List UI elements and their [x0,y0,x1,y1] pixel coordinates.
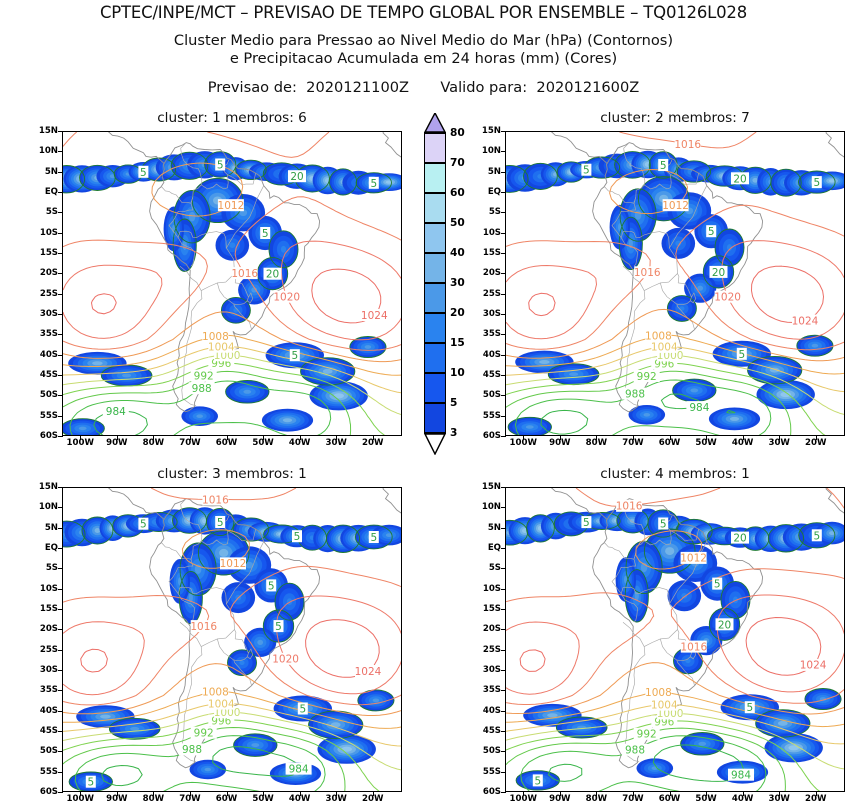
lon-tick-mark [300,791,301,796]
map-plot-area: 9849889929961000100410081012101610161020… [63,488,401,791]
lon-tick-mark [523,435,524,440]
lat-tick-mark [501,772,506,773]
lat-tick-label: 5S [471,563,501,573]
panel-1-title: cluster: 1 membros: 6 [62,110,402,126]
svg-text:1008: 1008 [202,686,229,698]
lat-tick-mark [501,711,506,712]
lat-tick-label: EQ [471,187,501,197]
lat-tick-label: 15S [28,248,58,258]
svg-text:1020: 1020 [714,292,741,304]
lat-tick-mark [58,192,63,193]
lat-tick-mark [501,690,506,691]
lon-tick-mark [743,435,744,440]
svg-text:5: 5 [262,228,269,240]
lat-tick-label: 15N [28,126,58,136]
svg-text:1016: 1016 [680,641,707,653]
lat-tick-mark [501,589,506,590]
lat-tick-label: 25S [471,645,501,655]
colorbar-tick-label: 70 [450,157,465,169]
colorbar-band[interactable] [424,283,446,313]
lat-tick-mark [58,253,63,254]
lat-tick-label: 15S [471,248,501,258]
lon-tick-mark [670,435,671,440]
lon-tick-mark [117,791,118,796]
lon-tick-mark [263,435,264,440]
forecast-from-label: Previsao de: [208,79,297,96]
lat-tick-label: 10N [28,502,58,512]
lat-tick-mark [58,375,63,376]
lat-tick-label: 20S [471,268,501,278]
svg-text:1008: 1008 [202,331,229,343]
lat-tick-label: 20S [471,624,501,634]
lon-tick-mark [633,791,634,796]
colorbar-tick-label: 50 [450,217,465,229]
lat-tick-label: 5S [28,207,58,217]
lat-tick-label: 50S [471,390,501,400]
lat-tick-label: 35S [28,329,58,339]
svg-text:5: 5 [294,531,301,543]
lon-tick-mark [670,791,671,796]
svg-text:20: 20 [290,171,303,183]
lat-tick-label: 55S [471,767,501,777]
lon-tick-mark [560,791,561,796]
svg-text:1012: 1012 [218,200,245,212]
lat-tick-mark [58,711,63,712]
lon-tick-mark [816,435,817,440]
svg-text:1004: 1004 [651,342,678,354]
lat-tick-label: 40S [471,350,501,360]
lat-tick-label: EQ [28,543,58,553]
lat-tick-label: 30S [471,665,501,675]
colorbar-tick-mark [424,402,446,403]
colorbar-tick-mark [424,312,446,313]
lat-tick-mark [58,629,63,630]
lat-tick-mark [501,294,506,295]
lat-tick-mark [58,528,63,529]
lat-tick-mark [501,395,506,396]
colorbar-band[interactable] [424,313,446,343]
forecast-time-line: Previsao de: 2020121100Z Valido para: 20… [0,79,847,96]
lat-tick-label: 40S [28,350,58,360]
lon-tick-mark [596,791,597,796]
svg-text:5: 5 [291,350,298,362]
lat-tick-mark [58,507,63,508]
lat-tick-mark [501,131,506,132]
colorbar-tick-label: 30 [450,277,465,289]
svg-text:5: 5 [708,226,715,238]
colorbar-tick-label: 10 [450,367,465,379]
lat-tick-label: 30S [471,309,501,319]
lat-tick-mark [501,355,506,356]
lat-tick-label: 30S [28,665,58,675]
chart-header: CPTEC/INPE/MCT – PREVISAO DE TEMPO GLOBA… [0,0,847,96]
colorbar-tick-label: 80 [450,127,465,139]
lon-tick-mark [336,791,337,796]
lat-tick-label: 5N [471,523,501,533]
colorbar-band[interactable] [424,223,446,253]
lon-tick-mark [816,791,817,796]
lat-tick-label: 50S [28,390,58,400]
lat-tick-label: EQ [28,187,58,197]
colorbar-band[interactable] [424,373,446,403]
lat-tick-mark [58,670,63,671]
colorbar-band[interactable] [424,253,446,283]
lat-tick-label: 10N [471,502,501,512]
lat-tick-mark [58,792,63,793]
lat-tick-mark [501,609,506,610]
colorbar-tick-mark [424,252,446,253]
svg-text:1016: 1016 [634,267,661,279]
lat-tick-mark [58,395,63,396]
svg-text:992: 992 [637,371,657,383]
lat-tick-mark [501,436,506,437]
lat-tick-label: 45S [28,370,58,380]
svg-text:984: 984 [731,770,751,782]
colorbar-under-arrow [424,433,446,455]
lat-tick-label: 40S [471,706,501,716]
lat-tick-mark [58,212,63,213]
svg-text:1024: 1024 [361,310,388,322]
lat-tick-mark [58,233,63,234]
lat-tick-mark [58,294,63,295]
svg-text:5: 5 [299,704,306,716]
lat-tick-mark [58,690,63,691]
lat-tick-mark [501,314,506,315]
lat-tick-label: 45S [471,370,501,380]
lat-tick-mark [58,334,63,335]
lat-tick-label: 10S [28,228,58,238]
svg-text:1016: 1016 [674,139,701,151]
plot-canvas: 9849889929961000100410081012101610161020… [63,488,401,791]
colorbar-band[interactable] [424,343,446,373]
lat-tick-mark [501,212,506,213]
plot-canvas: 9849889929961000100410081012101610161024… [506,488,844,791]
svg-text:5: 5 [217,517,224,529]
lon-tick-mark [80,435,81,440]
colorbar-tick-mark [424,432,446,433]
plot-canvas: 9849889929961000100410081012101610161020… [506,132,844,435]
map-plot-area: 9849889929961000100410081012101610161020… [506,132,844,435]
colorbar-tick-mark [424,342,446,343]
svg-text:5: 5 [87,777,94,789]
panel-4-title: cluster: 4 membros: 1 [505,466,845,482]
valid-for-value: 2020121600Z [536,79,639,96]
lat-tick-mark [501,528,506,529]
lon-tick-mark [560,435,561,440]
svg-text:1004: 1004 [208,342,235,354]
lat-tick-mark [58,436,63,437]
svg-text:5: 5 [660,519,667,531]
lat-tick-mark [58,772,63,773]
lat-tick-label: 45S [471,726,501,736]
lon-tick-mark [779,791,780,796]
svg-text:1016: 1016 [202,494,229,506]
lat-tick-label: 15N [471,126,501,136]
colorbar-over-arrow [424,113,446,133]
lon-tick-mark [373,435,374,440]
svg-text:1008: 1008 [645,330,672,342]
colorbar-tick-label: 20 [450,307,465,319]
colorbar-tick-mark [424,162,446,163]
lon-tick-mark [596,435,597,440]
lat-tick-mark [501,233,506,234]
svg-text:1004: 1004 [651,699,678,711]
lat-tick-mark [501,792,506,793]
svg-text:20: 20 [733,173,746,185]
svg-text:5: 5 [268,580,275,592]
svg-text:1016: 1016 [190,621,217,633]
lon-tick-mark [336,435,337,440]
svg-text:20: 20 [266,269,279,281]
lat-tick-label: 30S [28,309,58,319]
lon-tick-mark [190,791,191,796]
svg-text:5: 5 [534,775,541,787]
lon-tick-mark [706,435,707,440]
lat-tick-label: EQ [471,543,501,553]
svg-text:1008: 1008 [645,687,672,699]
colorbar-band[interactable] [424,163,446,193]
lat-tick-mark [501,568,506,569]
lat-tick-label: 60S [28,431,58,441]
svg-text:1024: 1024 [355,666,382,678]
map-plot-area: 9849889929961000100410081012101610201024… [63,132,401,435]
colorbar-tick-mark [424,222,446,223]
lat-tick-label: 5N [28,167,58,177]
lat-tick-mark [58,731,63,732]
svg-text:5: 5 [746,702,753,714]
lat-tick-label: 25S [28,645,58,655]
svg-text:1020: 1020 [272,654,299,666]
lat-tick-mark [58,273,63,274]
panel-2-title: cluster: 2 membros: 7 [505,110,845,126]
lon-tick-mark [300,435,301,440]
lat-tick-mark [58,314,63,315]
lon-tick-mark [190,435,191,440]
panel-3-title: cluster: 3 membros: 1 [62,466,402,482]
lat-tick-mark [501,334,506,335]
svg-text:988: 988 [625,388,645,400]
colorbar-tick-mark [424,132,446,133]
svg-text:5: 5 [140,167,147,179]
subtitle-line-2: e Precipitacao Acumulada em 24 horas (mm… [0,50,847,67]
lat-tick-label: 5S [28,563,58,573]
svg-text:5: 5 [660,160,667,172]
lat-tick-mark [58,416,63,417]
lat-tick-label: 25S [471,289,501,299]
lon-tick-mark [633,435,634,440]
lat-tick-mark [501,751,506,752]
lat-tick-mark [58,487,63,488]
lon-tick-mark [117,435,118,440]
lon-tick-mark [743,791,744,796]
map-panel-cluster-4[interactable]: 9849889929961000100410081012101610161024… [505,487,845,792]
lat-tick-mark [501,273,506,274]
lat-tick-mark [501,375,506,376]
lon-tick-mark [523,791,524,796]
svg-text:5: 5 [714,579,721,591]
lat-tick-mark [501,650,506,651]
lon-tick-mark [706,791,707,796]
lat-tick-mark [58,589,63,590]
svg-text:20: 20 [733,533,746,545]
svg-text:1016: 1016 [616,501,643,513]
lat-tick-mark [58,172,63,173]
lat-tick-mark [501,253,506,254]
svg-text:5: 5 [813,530,820,542]
lat-tick-label: 15S [28,604,58,614]
precipitation-shading [63,151,401,435]
subtitle-line-1: Cluster Medio para Pressao ao Nivel Medi… [0,32,847,49]
svg-text:1012: 1012 [680,553,707,565]
svg-text:984: 984 [289,763,309,775]
lat-tick-label: 60S [471,787,501,797]
lon-tick-mark [263,791,264,796]
svg-text:5: 5 [140,519,147,531]
svg-text:5: 5 [217,160,224,172]
svg-text:5: 5 [370,532,377,544]
colorbar-tick-label: 5 [450,397,457,409]
lat-tick-label: 10S [28,584,58,594]
lat-tick-label: 5S [471,207,501,217]
lat-tick-mark [58,650,63,651]
svg-text:984: 984 [689,402,709,414]
valid-for-label: Valido para: [440,79,527,96]
lat-tick-mark [501,151,506,152]
lat-tick-label: 60S [471,431,501,441]
map-panel-cluster-3[interactable]: 9849889929961000100410081012101610161020… [62,487,402,792]
lat-tick-mark [501,548,506,549]
svg-text:992: 992 [194,728,214,740]
svg-text:988: 988 [182,744,202,756]
lat-tick-label: 10N [471,146,501,156]
map-panel-cluster-1[interactable]: 9849889929961000100410081012101610201024… [62,131,402,436]
lat-tick-label: 15N [471,482,501,492]
lat-tick-mark [58,751,63,752]
svg-text:984: 984 [106,406,126,418]
lon-tick-mark [373,791,374,796]
lat-tick-label: 55S [28,411,58,421]
lat-tick-label: 20S [28,268,58,278]
colorbar-band[interactable] [424,403,446,433]
svg-text:1012: 1012 [662,200,689,212]
svg-text:1024: 1024 [792,315,819,327]
lat-tick-label: 60S [28,787,58,797]
svg-text:988: 988 [625,745,645,757]
lon-tick-mark [227,435,228,440]
lat-tick-mark [58,355,63,356]
svg-text:1016: 1016 [231,268,258,280]
lat-tick-mark [58,568,63,569]
svg-text:1012: 1012 [220,558,247,570]
lat-tick-label: 5N [28,523,58,533]
lat-tick-mark [58,151,63,152]
lat-tick-label: 5N [471,167,501,177]
svg-text:992: 992 [637,729,657,741]
colorbar-band[interactable] [424,193,446,223]
lat-tick-label: 50S [471,746,501,756]
svg-text:5: 5 [370,178,377,190]
lat-tick-label: 10N [28,146,58,156]
lat-tick-mark [501,192,506,193]
svg-text:20: 20 [718,619,731,631]
lon-tick-mark [153,435,154,440]
lat-tick-label: 50S [28,746,58,756]
colorbar-tick-mark [424,282,446,283]
svg-text:5: 5 [813,177,820,189]
lat-tick-mark [58,609,63,610]
lat-tick-mark [501,416,506,417]
svg-text:988: 988 [192,383,212,395]
lat-tick-mark [501,487,506,488]
svg-text:5: 5 [583,517,590,529]
lat-tick-mark [58,131,63,132]
colorbar-band[interactable] [424,133,446,163]
colorbar-tick-mark [424,192,446,193]
lon-tick-mark [153,791,154,796]
lat-tick-mark [501,670,506,671]
colorbar-tick-mark [424,372,446,373]
forecast-from-value: 2020121100Z [306,79,409,96]
lat-tick-label: 45S [28,726,58,736]
precipitation-shading [63,507,401,791]
lat-tick-label: 35S [471,685,501,695]
colorbar-tick-label: 3 [450,427,457,439]
map-panel-cluster-2[interactable]: 9849889929961000100410081012101610161020… [505,131,845,436]
lat-tick-label: 55S [28,767,58,777]
svg-text:20: 20 [712,267,725,279]
lat-tick-label: 25S [28,289,58,299]
lon-tick-mark [80,791,81,796]
institution-title: CPTEC/INPE/MCT – PREVISAO DE TEMPO GLOBA… [0,3,847,22]
lat-tick-label: 40S [28,706,58,716]
svg-text:5: 5 [275,621,282,633]
lat-tick-label: 15S [471,604,501,614]
lat-tick-label: 10S [471,584,501,594]
lat-tick-mark [501,629,506,630]
lat-tick-label: 35S [471,329,501,339]
svg-text:1004: 1004 [208,698,235,710]
svg-text:992: 992 [194,371,214,383]
lat-tick-mark [501,172,506,173]
lat-tick-label: 55S [471,411,501,421]
lat-tick-mark [501,507,506,508]
colorbar-tick-label: 40 [450,247,465,259]
colorbar-tick-label: 15 [450,337,465,349]
lat-tick-mark [58,548,63,549]
svg-text:1024: 1024 [800,660,827,672]
lat-tick-label: 15N [28,482,58,492]
lat-tick-mark [501,731,506,732]
svg-text:1020: 1020 [273,292,300,304]
lon-tick-mark [779,435,780,440]
colorbar-tick-label: 60 [450,187,465,199]
plot-canvas: 9849889929961000100410081012101610201024… [63,132,401,435]
lon-tick-mark [227,791,228,796]
lat-tick-label: 10S [471,228,501,238]
lat-tick-label: 35S [28,685,58,695]
svg-text:5: 5 [738,349,745,361]
lat-tick-label: 20S [28,624,58,634]
map-plot-area: 9849889929961000100410081012101610161024… [506,488,844,791]
svg-text:5: 5 [583,165,590,177]
